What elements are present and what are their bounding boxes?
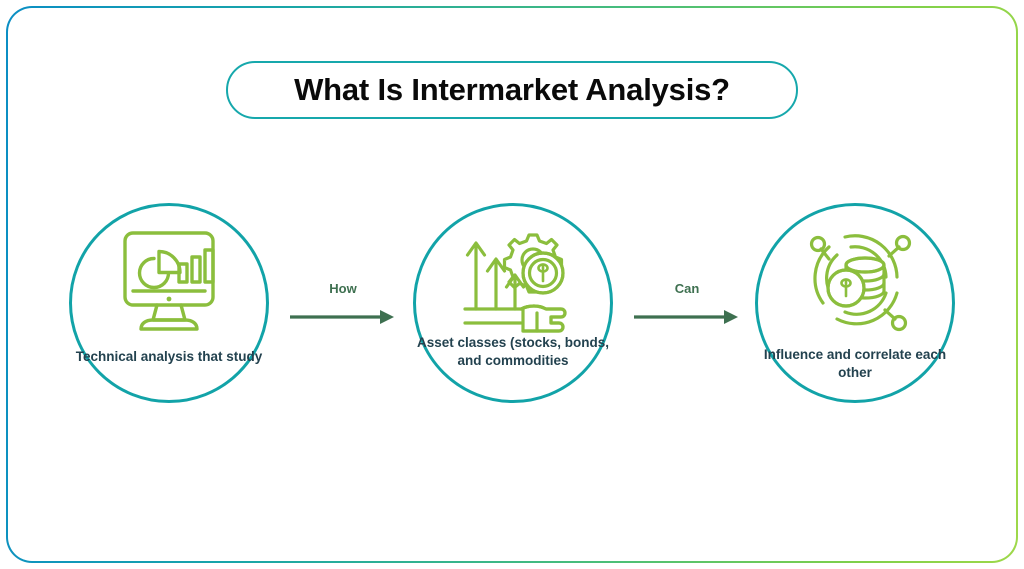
page-title-pill: What Is Intermarket Analysis? [226,61,798,119]
flow-connector-can: Can [632,281,742,343]
network-coins-icon [793,225,917,341]
node-label: Asset classes (stocks, bonds, and commod… [405,334,621,370]
growth-coins-gear-icon [451,225,575,341]
flow-node-influence-correlate: Influence and correlate each other [755,203,955,403]
flow-connector-how: How [288,281,398,343]
flow-node-asset-classes: Asset classes (stocks, bonds, and commod… [413,203,613,403]
arrow-right-icon [632,307,742,327]
monitor-chart-icon [107,225,231,341]
infographic-page: What Is Intermarket Analysis? [0,0,1024,569]
node-label: Technical analysis that study [61,348,277,366]
connector-label: How [288,281,398,296]
arrow-right-icon [288,307,398,327]
flow-node-technical-analysis: Technical analysis that study [69,203,269,403]
page-title: What Is Intermarket Analysis? [294,72,730,108]
node-label: Influence and correlate each other [747,346,963,382]
connector-label: Can [632,281,742,296]
